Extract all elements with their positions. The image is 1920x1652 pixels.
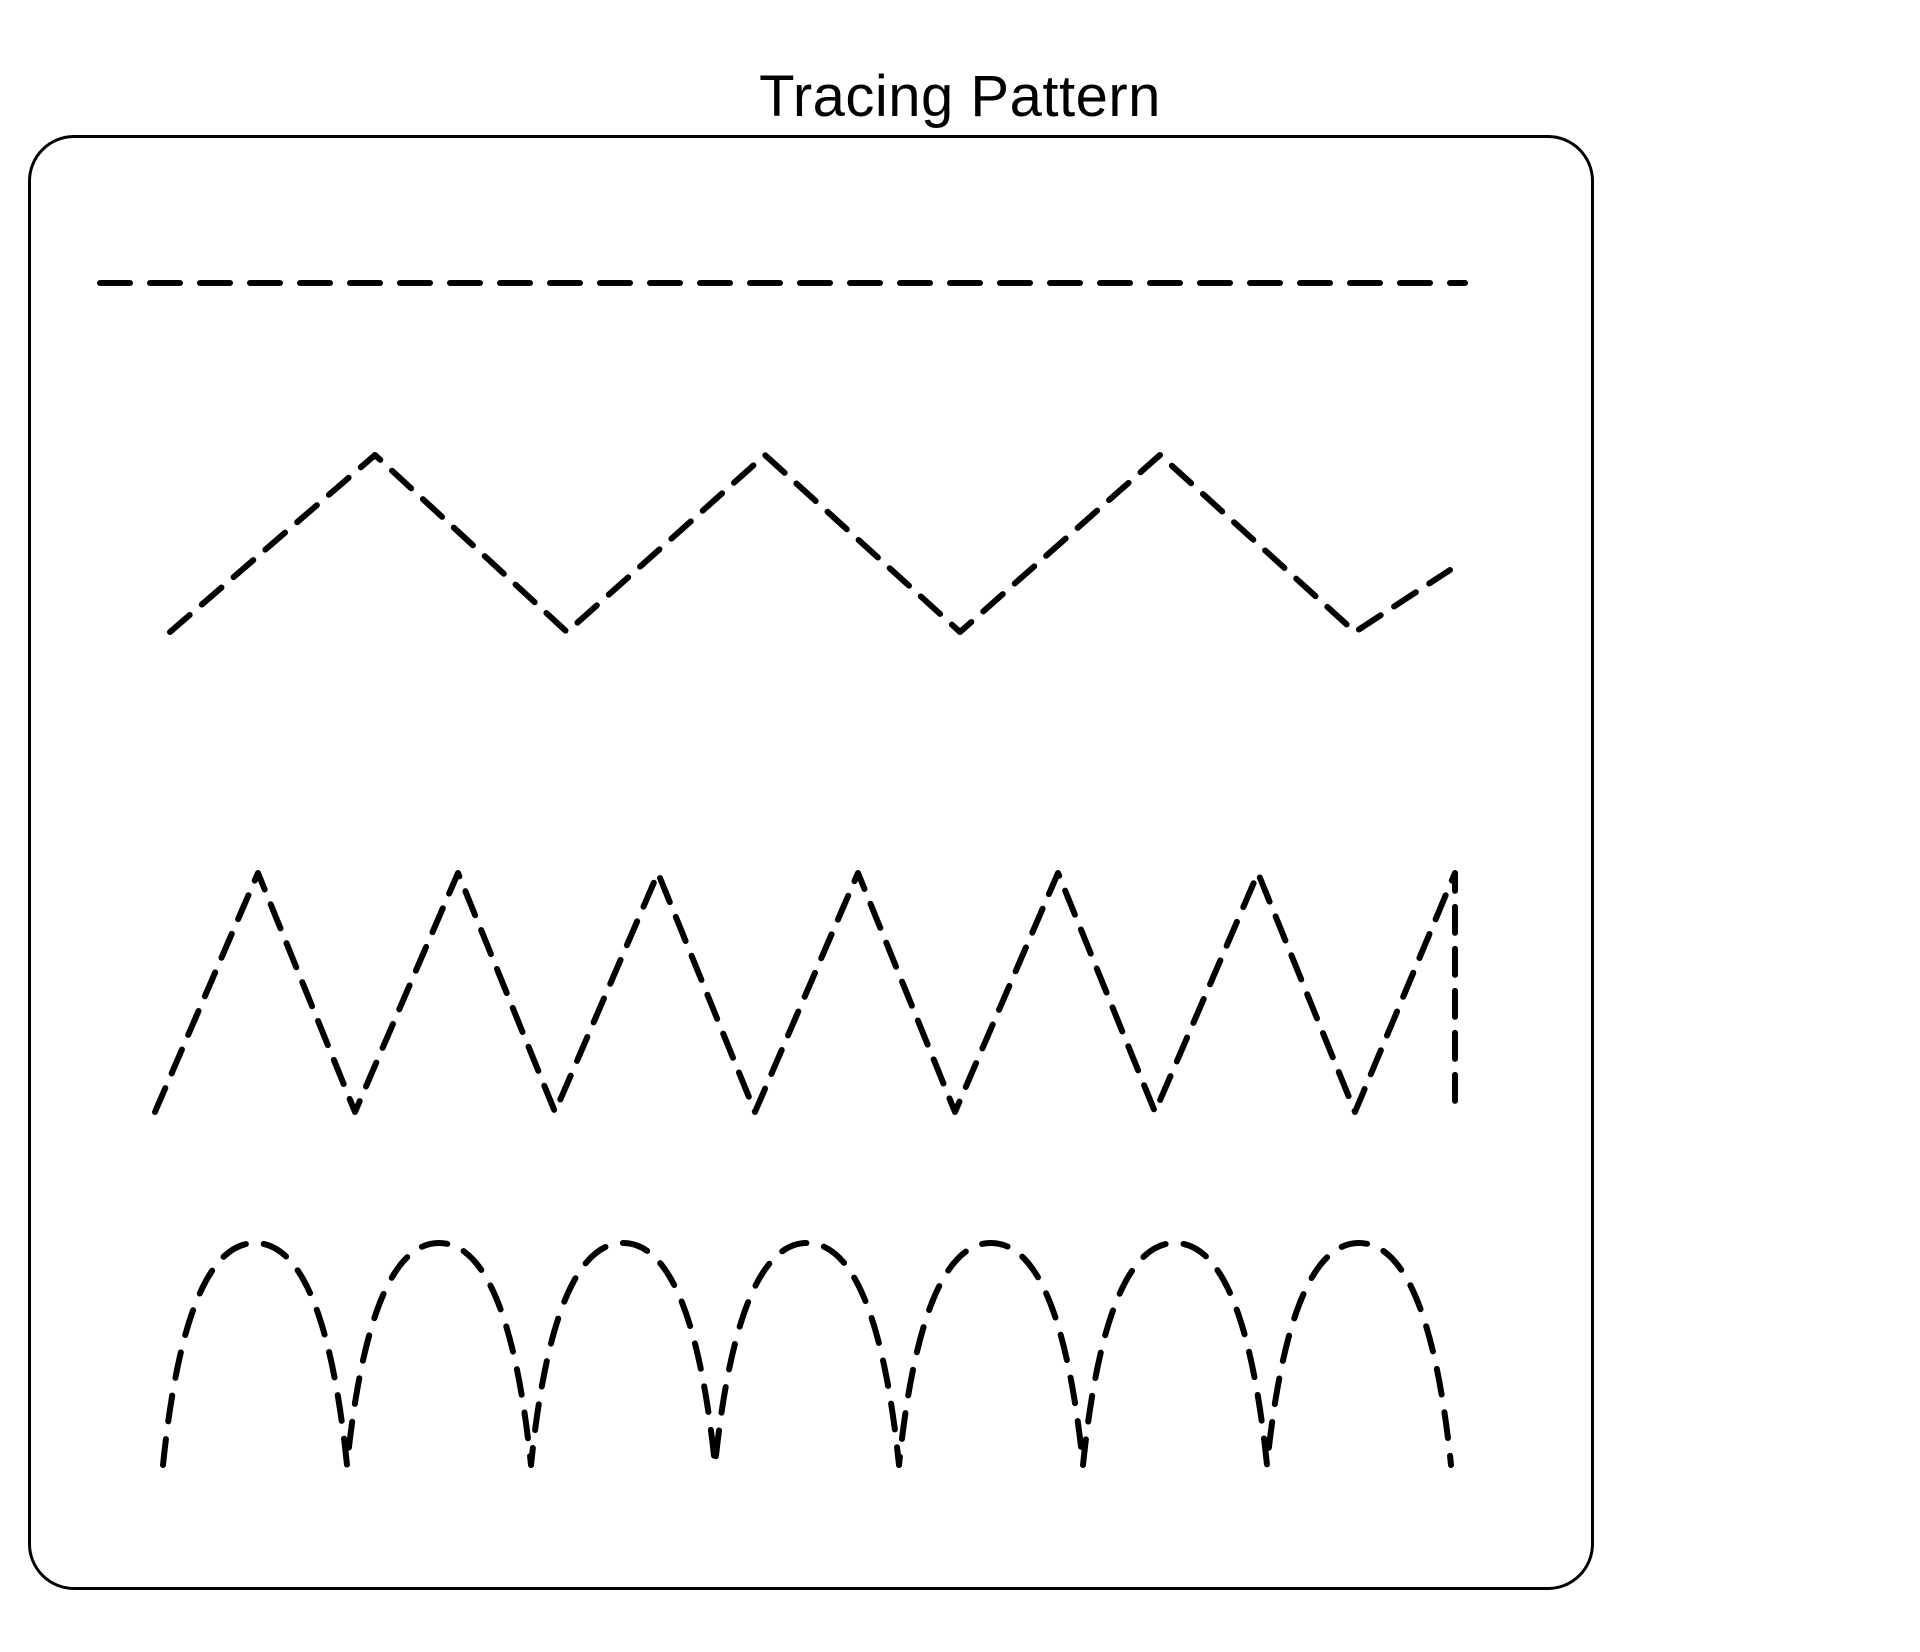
tracing-area	[28, 135, 1594, 1590]
page-title: Tracing Pattern	[0, 65, 1920, 129]
worksheet: Tracing Pattern	[0, 0, 1920, 1652]
